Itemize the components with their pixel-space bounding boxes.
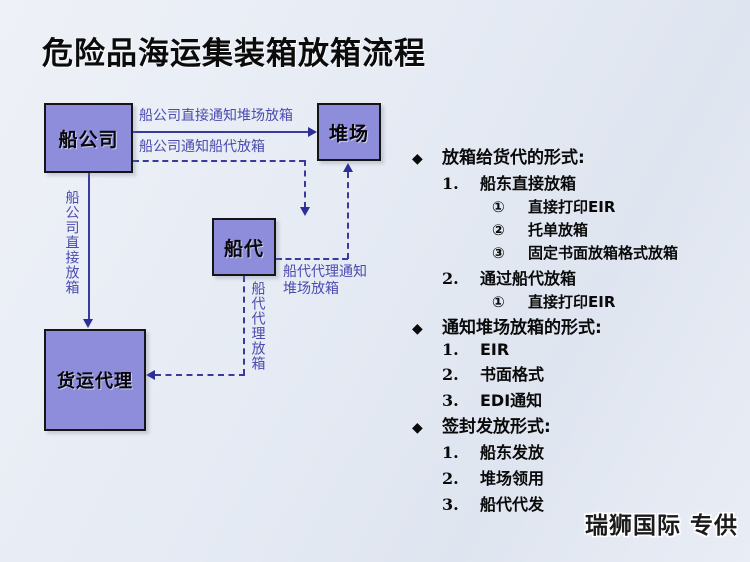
bullet-marker: ③ [492,244,528,262]
bullet-item: ③ 固定书面放箱格式放箱 [412,242,738,263]
bullet-item: 1. EIR [412,340,738,359]
bullet-text: 船东发放 [480,439,544,463]
edge-agent-to-forwarder-arrowhead [146,370,155,380]
edge-label-shipco-to-agent: 船公司通知船代放箱 [139,139,265,156]
bullet-marker: 3. [442,495,480,514]
edge-shipco-to-yard-line [133,131,309,133]
bullet-list: ◆ 放箱给货代的形式: 1. 船东直接放箱 ① 直接打印EIR ② 托单放箱 ③… [412,142,738,515]
bullet-item: ① 直接打印EIR [412,291,738,312]
bullet-text: 签封发放形式: [442,412,551,437]
bullet-text: EDI通知 [480,387,542,411]
bullet-item: ② 托单放箱 [412,219,738,240]
edge-shipco-to-agent-line-h [133,160,305,162]
node-shipping-agent-label: 船代 [224,234,264,261]
edge-label-shipco-to-forwarder: 船公司直接放箱 [63,190,80,295]
bullet-marker: ◆ [412,420,442,436]
bullet-item: ① 直接打印EIR [412,196,738,217]
node-freight-forwarder-label: 货运代理 [57,367,133,393]
edge-label-agent-to-yard: 船代代理通知堆场放箱 [283,264,379,297]
bullet-item: 1. 船东发放 [412,439,738,463]
watermark: 瑞狮国际 专供 [585,506,738,540]
node-shipping-company-label: 船公司 [58,125,118,152]
bullet-item: ◆ 通知堆场放箱的形式: [412,313,738,338]
bullet-marker: ◆ [412,151,442,167]
bullet-text: 托单放箱 [528,219,588,240]
bullet-text: 直接打印EIR [528,196,615,217]
edge-agent-to-yard-line-v [347,172,349,259]
slide-canvas: 危险品海运集装箱放箱流程 船公司直接通知堆场放箱 船公司通知船代放箱 船公司直接… [0,0,750,562]
bullet-marker: 2. [442,365,480,384]
page-title: 危险品海运集装箱放箱流程 [42,28,426,73]
bullet-item: 1. 船东直接放箱 [412,170,738,194]
edge-shipco-to-agent-line-v [304,160,306,208]
node-container-yard[interactable]: 堆场 [317,103,381,161]
bullet-text: 船代代发 [480,491,544,515]
edge-shipco-to-agent-arrowhead [300,207,310,216]
edge-agent-to-forwarder-line-h [155,374,245,376]
edge-shipco-to-forwarder-arrowhead [83,319,93,328]
bullet-item: ◆ 签封发放形式: [412,412,738,437]
bullet-text: EIR [480,340,509,359]
edge-agent-to-yard-line-h [276,258,348,260]
node-shipping-company[interactable]: 船公司 [44,103,133,173]
bullet-text: 堆场领用 [480,465,544,489]
bullet-text: 放箱给货代的形式: [442,143,585,168]
bullet-marker: ① [492,198,528,216]
edge-shipco-to-yard-arrowhead [308,127,317,137]
node-container-yard-label: 堆场 [329,119,369,146]
bullet-item: 2. 书面格式 [412,361,738,385]
bullet-text: 通知堆场放箱的形式: [442,313,602,338]
edge-label-shipco-to-yard: 船公司直接通知堆场放箱 [139,108,293,125]
bullet-marker: 1. [442,174,480,193]
bullet-marker: 2. [442,469,480,488]
edge-agent-to-forwarder-line-v [243,276,245,375]
node-freight-forwarder[interactable]: 货运代理 [44,329,146,431]
bullet-text: 固定书面放箱格式放箱 [528,242,678,263]
bullet-marker: ② [492,221,528,239]
bullet-text: 直接打印EIR [528,291,615,312]
node-shipping-agent[interactable]: 船代 [212,218,276,276]
bullet-marker: 1. [442,340,480,359]
bullet-marker: ① [492,293,528,311]
edge-agent-to-yard-arrowhead [343,163,353,172]
edge-shipco-to-forwarder-line [88,173,90,321]
edge-label-agent-to-forwarder: 船代代理放箱 [249,281,266,371]
bullet-marker: 3. [442,391,480,410]
bullet-item: 3. EDI通知 [412,387,738,411]
bullet-text: 船东直接放箱 [480,170,576,194]
bullet-item: 2. 堆场领用 [412,465,738,489]
bullet-text: 通过船代放箱 [480,265,576,289]
bullet-marker: 2. [442,269,480,288]
bullet-item: 2. 通过船代放箱 [412,265,738,289]
bullet-marker: ◆ [412,321,442,337]
bullet-item: ◆ 放箱给货代的形式: [412,143,738,168]
bullet-marker: 1. [442,443,480,462]
bullet-text: 书面格式 [480,361,544,385]
